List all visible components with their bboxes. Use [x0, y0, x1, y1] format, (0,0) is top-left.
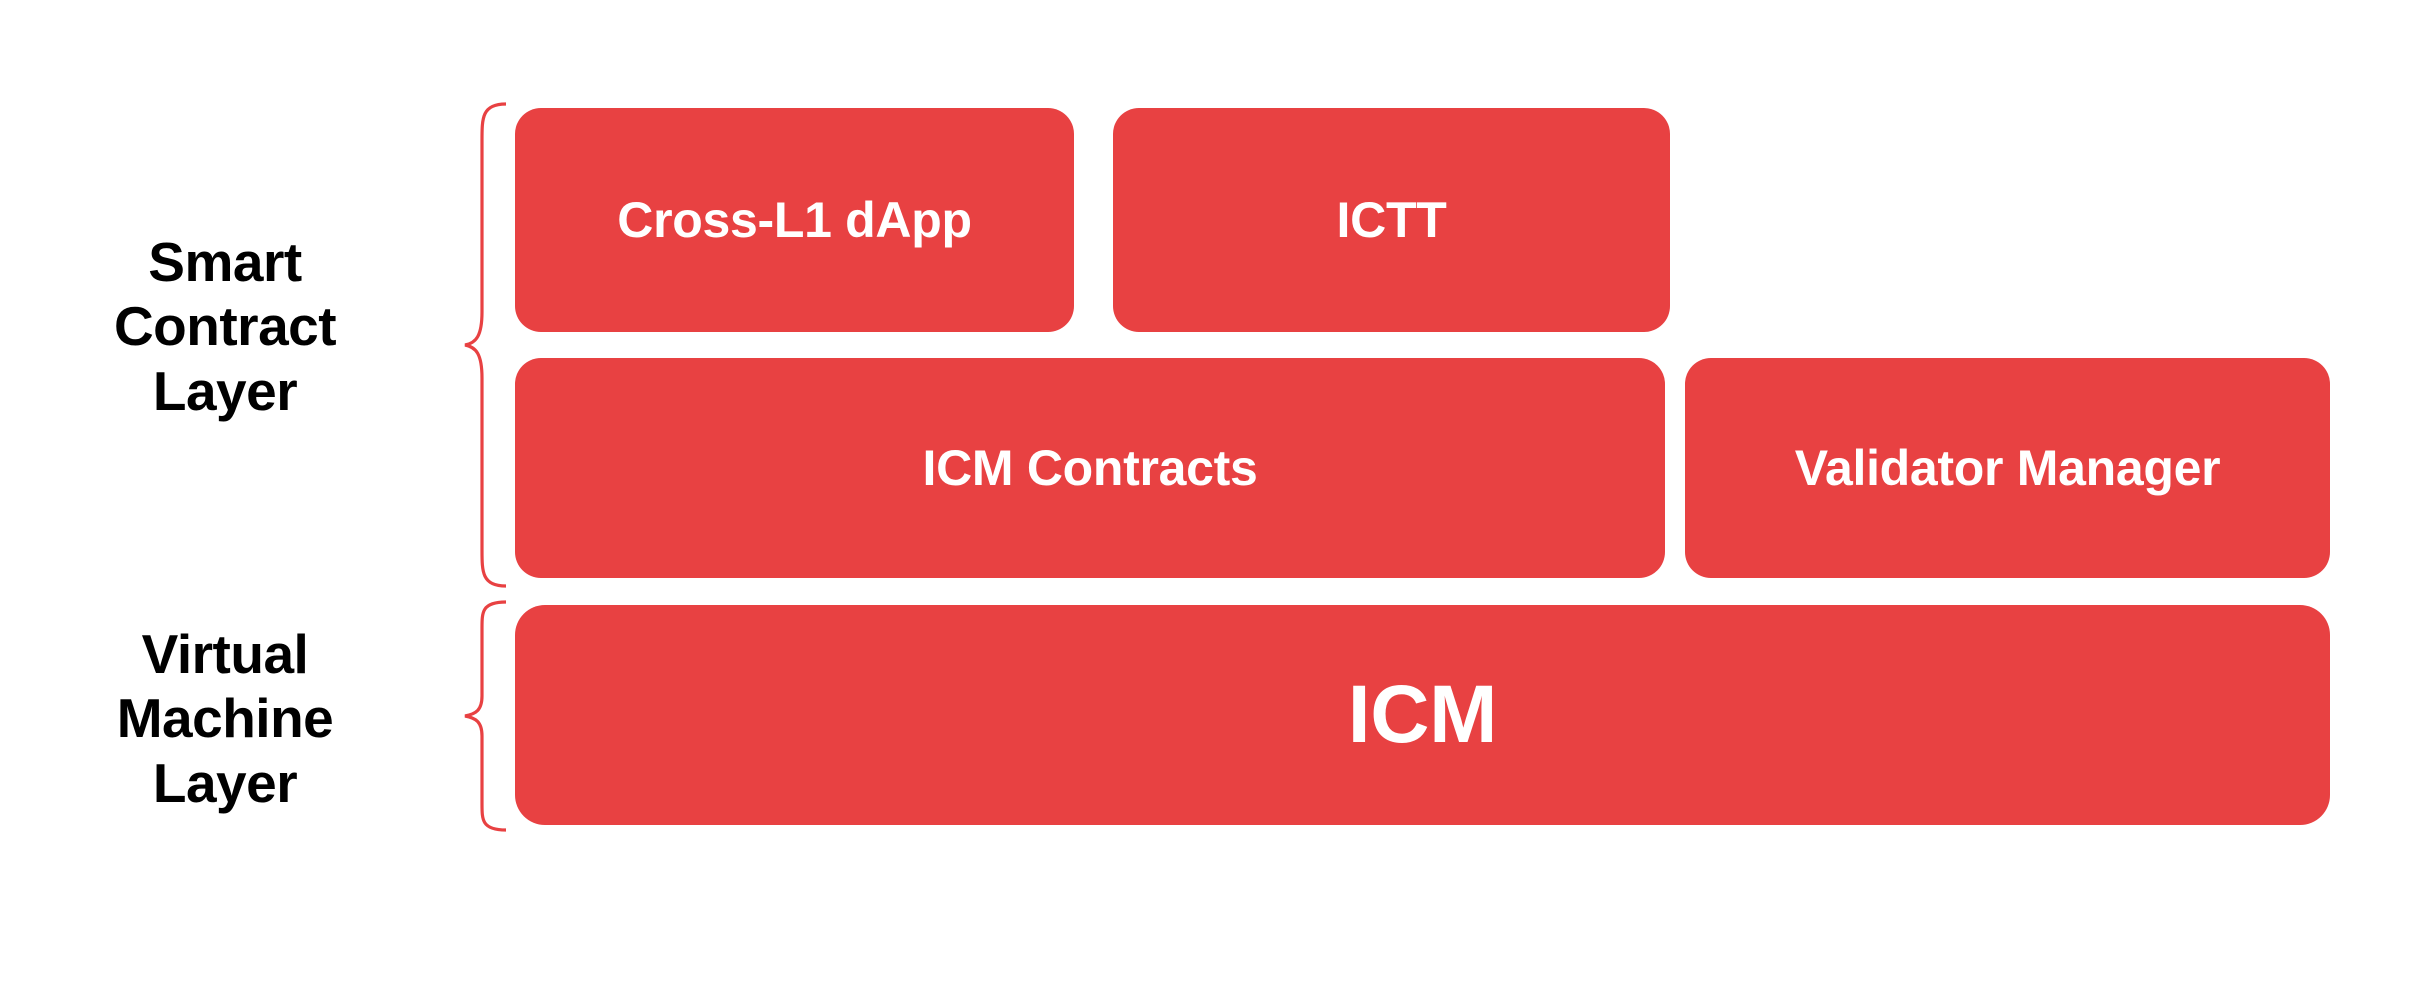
curly-brace-icon-virtual-machine [462, 598, 510, 834]
node-box-label: ICM Contracts [922, 439, 1257, 497]
node-box-cross-l1-dapp[interactable]: Cross-L1 dApp [515, 108, 1074, 332]
node-box-icm-contracts[interactable]: ICM Contracts [515, 358, 1665, 578]
node-box-label: Cross-L1 dApp [617, 191, 971, 249]
diagram-canvas: Smart Contract Layer Virtual Machine Lay… [0, 0, 2434, 988]
node-box-icm[interactable]: ICM [515, 605, 2330, 825]
layer-label-smart-contract: Smart Contract Layer [40, 230, 410, 423]
node-box-ictt[interactable]: ICTT [1113, 108, 1670, 332]
node-box-label: ICM [1348, 668, 1497, 762]
node-box-label: ICTT [1337, 191, 1447, 249]
layer-label-virtual-machine: Virtual Machine Layer [40, 622, 410, 815]
node-box-label: Validator Manager [1795, 439, 2221, 497]
node-box-validator-manager[interactable]: Validator Manager [1685, 358, 2330, 578]
curly-brace-icon-smart-contract [462, 100, 510, 590]
